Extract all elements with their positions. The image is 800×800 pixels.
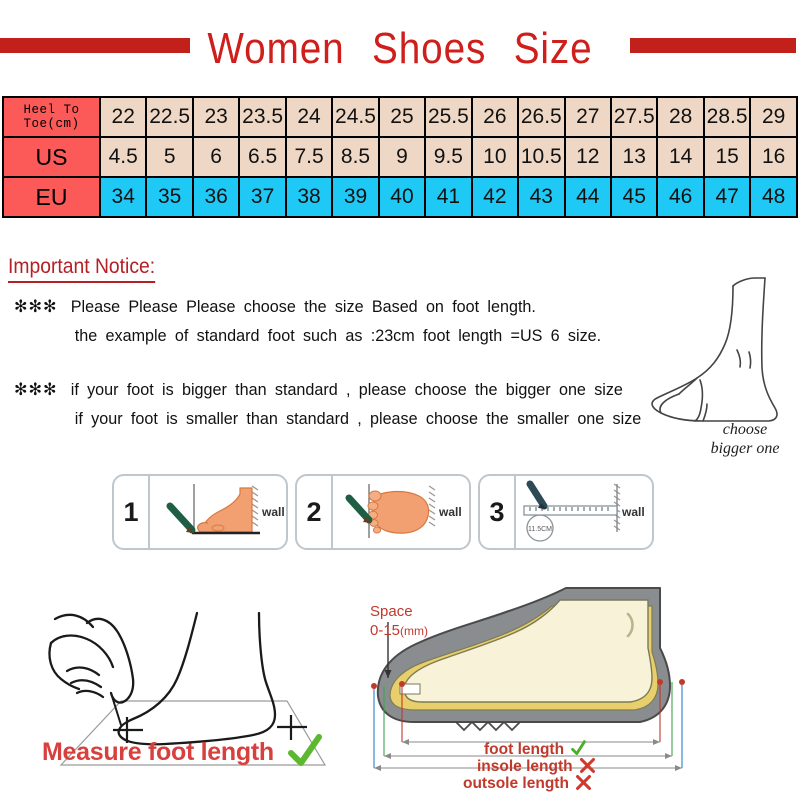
cell-cm-2: 22.5 bbox=[146, 97, 192, 137]
cell-us-7: 9 bbox=[379, 137, 425, 177]
step-body: wall bbox=[148, 476, 286, 548]
notice-line: the example of standard foot such as :23… bbox=[14, 321, 601, 350]
cell-cm-11: 27 bbox=[565, 97, 611, 137]
outsole-length-label: outsole length bbox=[463, 775, 569, 792]
caption-line-1: choose bbox=[690, 420, 800, 439]
notice-text: if your foot is smaller than standard , … bbox=[75, 409, 641, 428]
cell-cm-12: 27.5 bbox=[611, 97, 657, 137]
measure-step-3: 3 11.5CM wall bbox=[478, 474, 654, 550]
cell-eu-7: 40 bbox=[379, 177, 425, 217]
cell-eu-4: 37 bbox=[239, 177, 285, 217]
step-body: 11.5CM wall bbox=[514, 476, 652, 548]
space-label-value: 0-15 bbox=[370, 622, 400, 639]
cell-us-4: 6.5 bbox=[239, 137, 285, 177]
green-check-icon bbox=[570, 740, 587, 757]
notice-text: if your foot is bigger than standard , p… bbox=[71, 380, 623, 399]
red-cross-icon bbox=[579, 757, 596, 774]
measure-foot-caption: Measure foot length bbox=[42, 738, 274, 767]
cell-us-8: 9.5 bbox=[425, 137, 471, 177]
page-title: Women Shoes Size bbox=[48, 20, 752, 78]
space-label-line-1: Space bbox=[370, 602, 428, 621]
notice-line: ✻✻✻if your foot is bigger than standard … bbox=[14, 375, 641, 404]
asterisk-marker: ✻✻✻ bbox=[14, 380, 71, 399]
cell-cm-7: 25 bbox=[379, 97, 425, 137]
cell-eu-9: 42 bbox=[472, 177, 518, 217]
outsole-length-label-row: outsole length bbox=[463, 774, 592, 793]
cell-us-10: 10.5 bbox=[518, 137, 564, 177]
cell-us-6: 8.5 bbox=[332, 137, 378, 177]
cell-eu-13: 46 bbox=[657, 177, 703, 217]
cell-eu-10: 43 bbox=[518, 177, 564, 217]
title-word-2: Shoes bbox=[364, 24, 494, 73]
cell-us-1: 4.5 bbox=[100, 137, 146, 177]
foot-profile-caption: choose bigger one bbox=[690, 420, 800, 458]
notice-text: the example of standard foot such as :23… bbox=[75, 326, 601, 345]
cell-us-12: 13 bbox=[611, 137, 657, 177]
foot-length-label: foot length bbox=[484, 741, 564, 758]
cell-eu-2: 35 bbox=[146, 177, 192, 217]
notice-text: Please Please Please choose the size Bas… bbox=[71, 297, 536, 316]
cell-cm-10: 26.5 bbox=[518, 97, 564, 137]
cell-us-3: 6 bbox=[193, 137, 239, 177]
step2-top-foot-icon: wall bbox=[331, 476, 469, 548]
cell-us-9: 10 bbox=[472, 137, 518, 177]
cell-eu-12: 45 bbox=[611, 177, 657, 217]
cell-cm-8: 25.5 bbox=[425, 97, 471, 137]
cell-us-13: 14 bbox=[657, 137, 703, 177]
cell-cm-5: 24 bbox=[286, 97, 332, 137]
table-row: US 4.5 5 6 6.5 7.5 8.5 9 9.5 10 10.5 12 … bbox=[3, 137, 797, 177]
red-cross-icon bbox=[575, 774, 592, 791]
cell-us-15: 16 bbox=[750, 137, 797, 177]
measure-step-1: 1 wall bbox=[112, 474, 288, 550]
step1-side-foot-icon: wall bbox=[148, 476, 286, 548]
row-label-us: US bbox=[3, 137, 100, 177]
step-number: 3 bbox=[480, 476, 516, 548]
cell-cm-1: 22 bbox=[100, 97, 146, 137]
title-word-1: Women bbox=[200, 24, 353, 73]
notice-block-2: ✻✻✻if your foot is bigger than standard … bbox=[14, 375, 641, 433]
space-annotation: Space 0-15(mm) bbox=[370, 602, 428, 641]
wall-label: wall bbox=[438, 505, 462, 519]
row-label-heel-to-toe: Heel To Toe(cm) bbox=[3, 97, 100, 137]
caption-line-2: bigger one bbox=[690, 439, 800, 458]
cell-cm-3: 23 bbox=[193, 97, 239, 137]
row-label-eu: EU bbox=[3, 177, 100, 217]
cell-eu-11: 44 bbox=[565, 177, 611, 217]
asterisk-marker: ✻✻✻ bbox=[14, 297, 71, 316]
cell-us-14: 15 bbox=[704, 137, 750, 177]
step-number: 2 bbox=[297, 476, 333, 548]
cell-eu-15: 48 bbox=[750, 177, 797, 217]
notice-line: if your foot is smaller than standard , … bbox=[14, 404, 641, 433]
wall-label: wall bbox=[621, 505, 645, 519]
cell-eu-14: 47 bbox=[704, 177, 750, 217]
table-row: Heel To Toe(cm) 22 22.5 23 23.5 24 24.5 … bbox=[3, 97, 797, 137]
important-notice-heading: Important Notice: bbox=[8, 255, 155, 283]
cell-cm-14: 28.5 bbox=[704, 97, 750, 137]
cell-eu-8: 41 bbox=[425, 177, 471, 217]
cell-cm-6: 24.5 bbox=[332, 97, 378, 137]
step-number: 1 bbox=[114, 476, 150, 548]
space-label-units: (mm) bbox=[400, 624, 428, 638]
cell-cm-9: 26 bbox=[472, 97, 518, 137]
title-area: Women Shoes Size bbox=[0, 20, 800, 80]
cell-us-11: 12 bbox=[565, 137, 611, 177]
green-check-icon bbox=[285, 733, 325, 773]
notice-block-1: ✻✻✻Please Please Please choose the size … bbox=[14, 292, 601, 350]
step-body: wall bbox=[331, 476, 469, 548]
cell-eu-3: 36 bbox=[193, 177, 239, 217]
measure-step-2: 2 wall bbox=[295, 474, 471, 550]
table-row: EU 34 35 36 37 38 39 40 41 42 43 44 45 4… bbox=[3, 177, 797, 217]
size-chart-table: Heel To Toe(cm) 22 22.5 23 23.5 24 24.5 … bbox=[2, 96, 798, 218]
cell-eu-5: 38 bbox=[286, 177, 332, 217]
title-word-3: Size bbox=[506, 24, 601, 73]
insole-length-label: insole length bbox=[477, 758, 573, 775]
cell-cm-15: 29 bbox=[750, 97, 797, 137]
step3-ruler-icon: 11.5CM wall bbox=[514, 476, 652, 548]
cell-cm-13: 28 bbox=[657, 97, 703, 137]
cell-eu-1: 34 bbox=[100, 177, 146, 217]
cell-cm-4: 23.5 bbox=[239, 97, 285, 137]
notice-line: ✻✻✻Please Please Please choose the size … bbox=[14, 292, 601, 321]
step3-reading: 11.5CM bbox=[528, 526, 552, 533]
cell-eu-6: 39 bbox=[332, 177, 378, 217]
cell-us-2: 5 bbox=[146, 137, 192, 177]
wall-label: wall bbox=[261, 505, 285, 519]
cell-us-5: 7.5 bbox=[286, 137, 332, 177]
